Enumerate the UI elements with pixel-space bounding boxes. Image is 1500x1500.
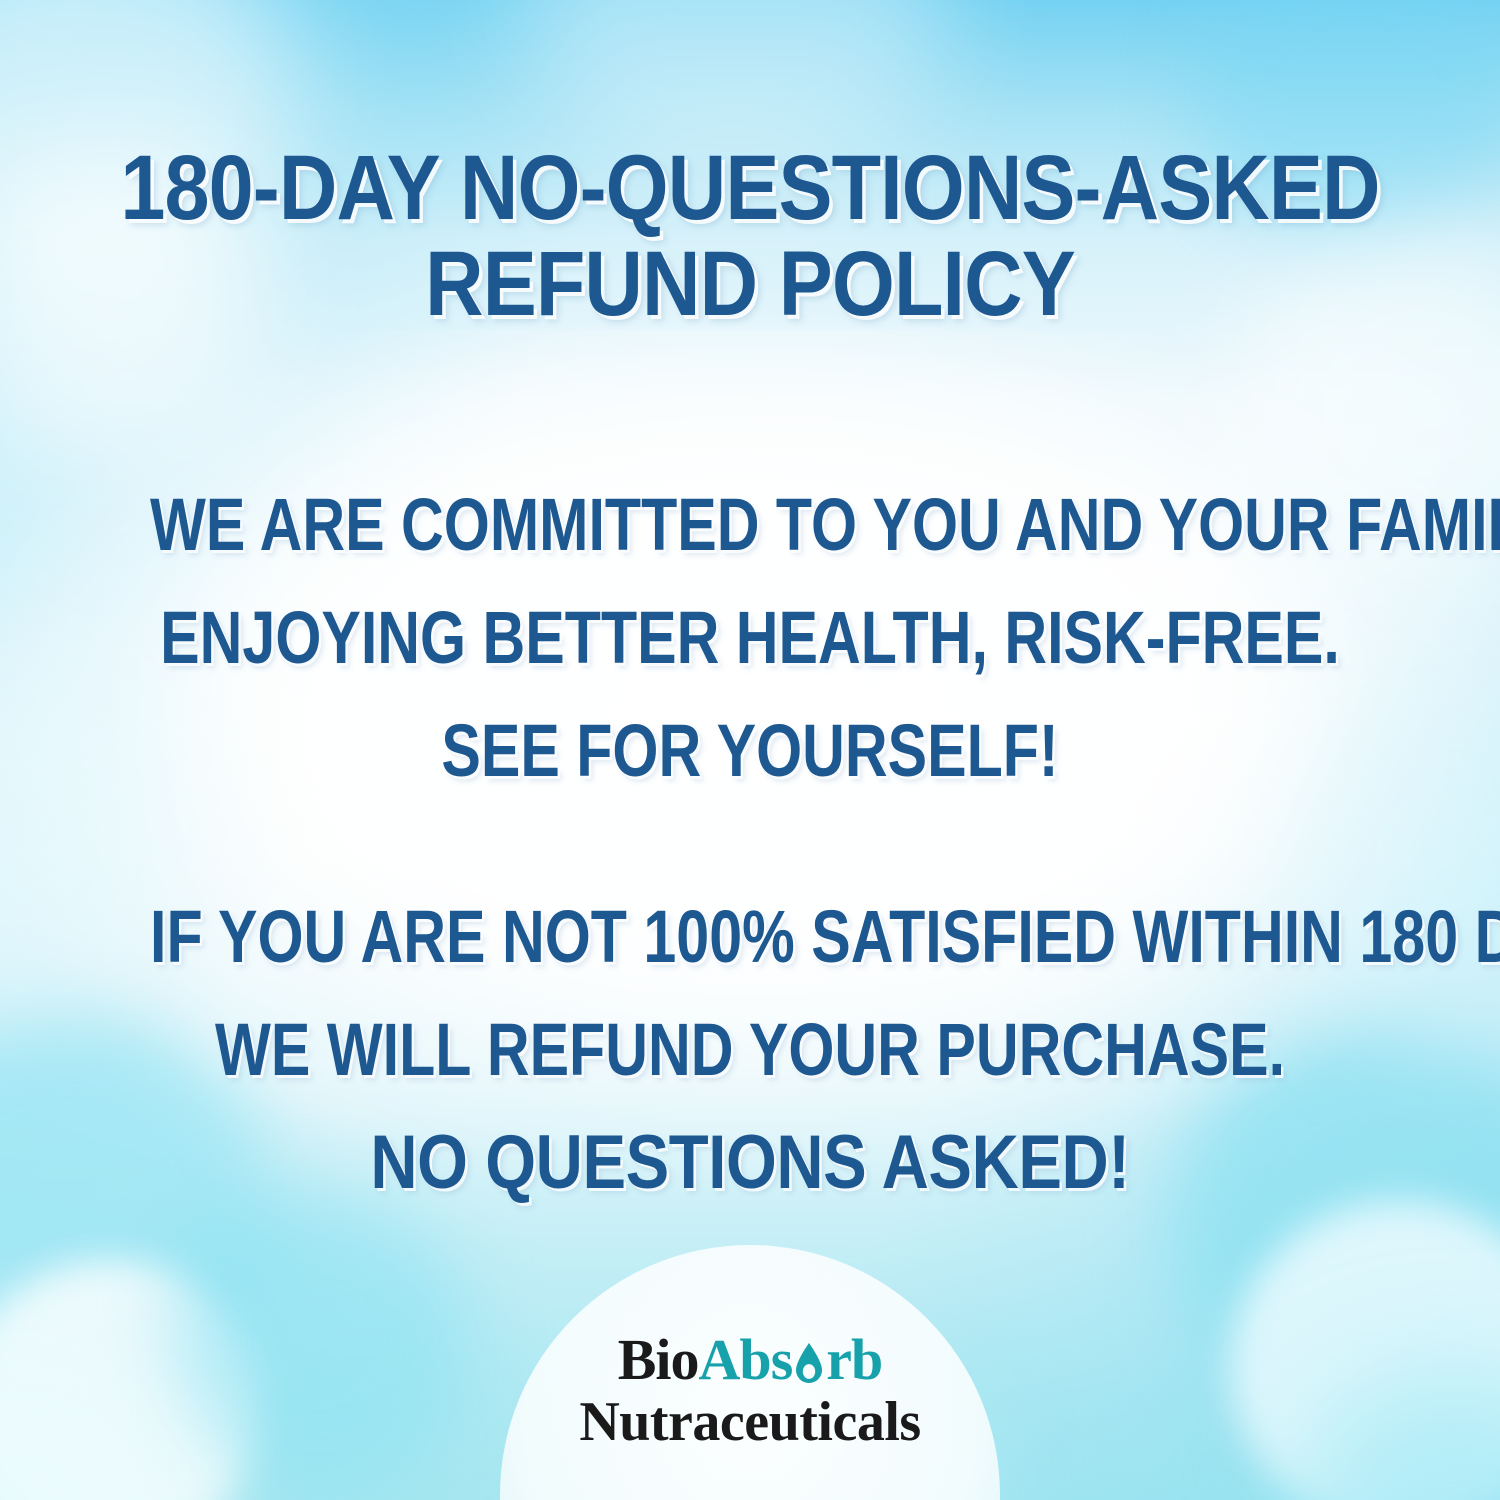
guarantee-line-3: NO QUESTIONS ASKED! <box>105 1106 1395 1219</box>
brand-logo-tagline: Nutraceuticals <box>0 1392 1500 1452</box>
water-droplet-icon <box>792 1342 826 1386</box>
commitment-line-3: SEE FOR YOURSELF! <box>150 694 1350 807</box>
poster-content: 180-DAY NO-QUESTIONS-ASKED REFUND POLICY… <box>0 0 1500 1500</box>
commitment-line-2: ENJOYING BETTER HEALTH, RISK-FREE. <box>150 581 1350 694</box>
guarantee-line-2: WE WILL REFUND YOUR PURCHASE. <box>150 993 1350 1106</box>
refund-policy-poster: 180-DAY NO-QUESTIONS-ASKED REFUND POLICY… <box>0 0 1500 1500</box>
brand-logo-absorb-suffix: rb <box>826 1327 882 1392</box>
commitment-paragraph: WE ARE COMMITTED TO YOU AND YOUR FAMILY … <box>0 468 1500 807</box>
brand-logo-bio: Bio <box>618 1327 699 1392</box>
guarantee-line-1: IF YOU ARE NOT 100% SATISFIED WITHIN 180… <box>150 880 1350 993</box>
brand-logo: BioAbs rb Nutraceuticals <box>0 1330 1500 1452</box>
brand-logo-wordmark: BioAbs rb <box>0 1330 1500 1390</box>
headline-line-1: 180-DAY NO-QUESTIONS-ASKED <box>90 140 1410 236</box>
headline: 180-DAY NO-QUESTIONS-ASKED REFUND POLICY <box>0 140 1500 332</box>
guarantee-paragraph: IF YOU ARE NOT 100% SATISFIED WITHIN 180… <box>0 880 1500 1219</box>
brand-logo-absorb-prefix: Abs <box>699 1327 793 1392</box>
headline-line-2: REFUND POLICY <box>90 236 1410 332</box>
commitment-line-1: WE ARE COMMITTED TO YOU AND YOUR FAMILY <box>150 468 1350 581</box>
